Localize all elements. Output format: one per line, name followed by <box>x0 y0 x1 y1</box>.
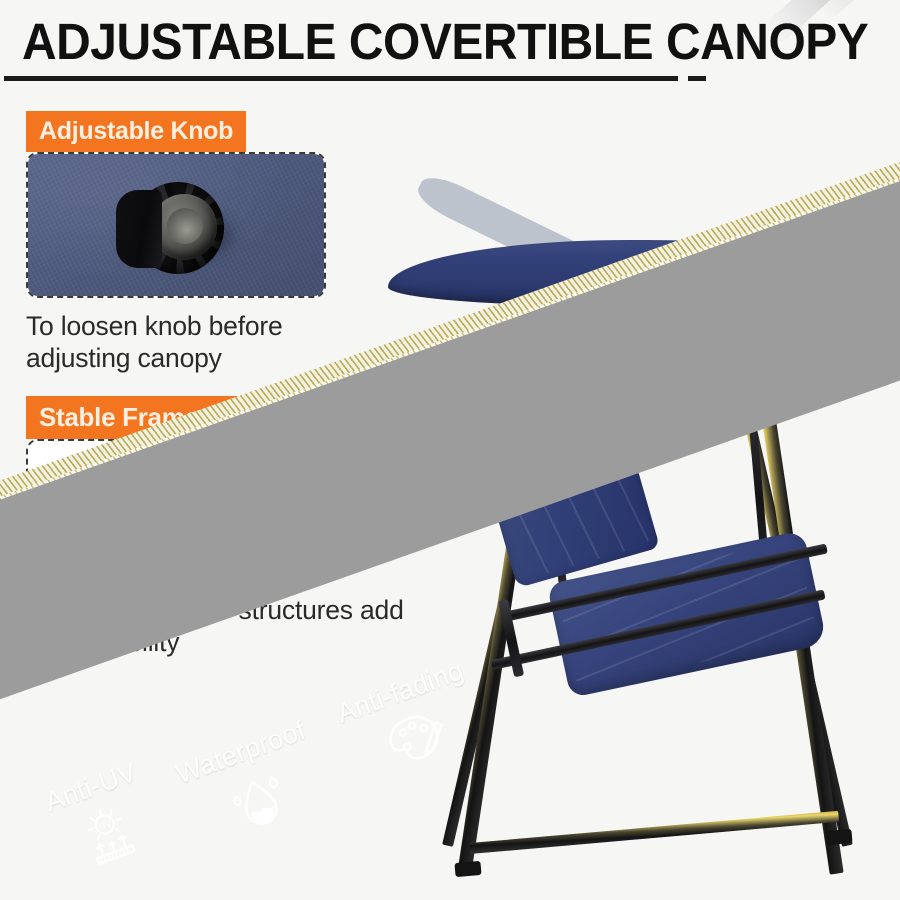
knob-dimple <box>167 208 203 244</box>
page-title: ADJUSTABLE COVERTIBLE CANOPY <box>22 16 827 68</box>
frame-bolt <box>156 519 164 527</box>
benefit-anti-fading: Anti-fading <box>333 655 490 790</box>
frame-pole-front-right <box>744 299 844 875</box>
caption-adjustable-knob: To loosen knob before adjusting canopy <box>26 310 356 374</box>
frame-base-crossbar <box>470 811 840 854</box>
seat-armrest <box>488 434 543 482</box>
title-underline <box>4 76 678 81</box>
frame-foot-right <box>825 829 852 845</box>
seat-frame-rail-front <box>503 543 828 621</box>
title-underline-dash <box>688 76 706 81</box>
frame-bolt <box>224 513 232 521</box>
canopy-ghost-position-tilt-right <box>458 170 894 406</box>
stable-frame-photo <box>26 439 326 584</box>
adjustable-knob-photo <box>26 152 326 298</box>
seat-backrest-cushion <box>484 430 660 588</box>
frame-pole-rear-left <box>442 299 579 847</box>
backrest-tufting <box>491 437 652 580</box>
canopy-ghost-position-tilt-left <box>413 170 849 406</box>
seat-frame-rail-side <box>498 599 524 677</box>
caption-stable-frame: Multiple trianguler structures add more … <box>26 594 406 658</box>
frame-crossbar-middle <box>591 376 715 386</box>
canopy-navy <box>388 240 888 306</box>
benefit-anti-uv: Anti-UV UV <box>41 757 164 883</box>
seat-hanger-rod-left <box>536 368 570 615</box>
frame-foot-left <box>454 861 481 877</box>
knob-grip-lobes <box>116 190 162 268</box>
infographic-canvas: ADJUSTABLE COVERTIBLE CANOPY Adjustable … <box>0 0 900 900</box>
frame-pole-front-left <box>457 299 557 875</box>
badge-stable-frame-structure: Stable Frame Structure <box>26 396 354 439</box>
seat-frame-rail-back <box>491 589 826 669</box>
suspension-spring <box>641 302 655 338</box>
seat-hanger-rod-right <box>744 368 773 608</box>
badge-adjustable-knob: Adjustable Knob <box>26 111 246 152</box>
canopy-center-knob <box>636 256 658 278</box>
frame-pole-rear-right <box>716 299 853 847</box>
seat-tufting <box>556 540 817 689</box>
benefit-waterproof: Waterproof <box>172 715 334 856</box>
seat-bottom-cushion <box>547 530 827 698</box>
suspension-hook <box>641 336 655 364</box>
frame-crossbar-top <box>606 352 702 362</box>
